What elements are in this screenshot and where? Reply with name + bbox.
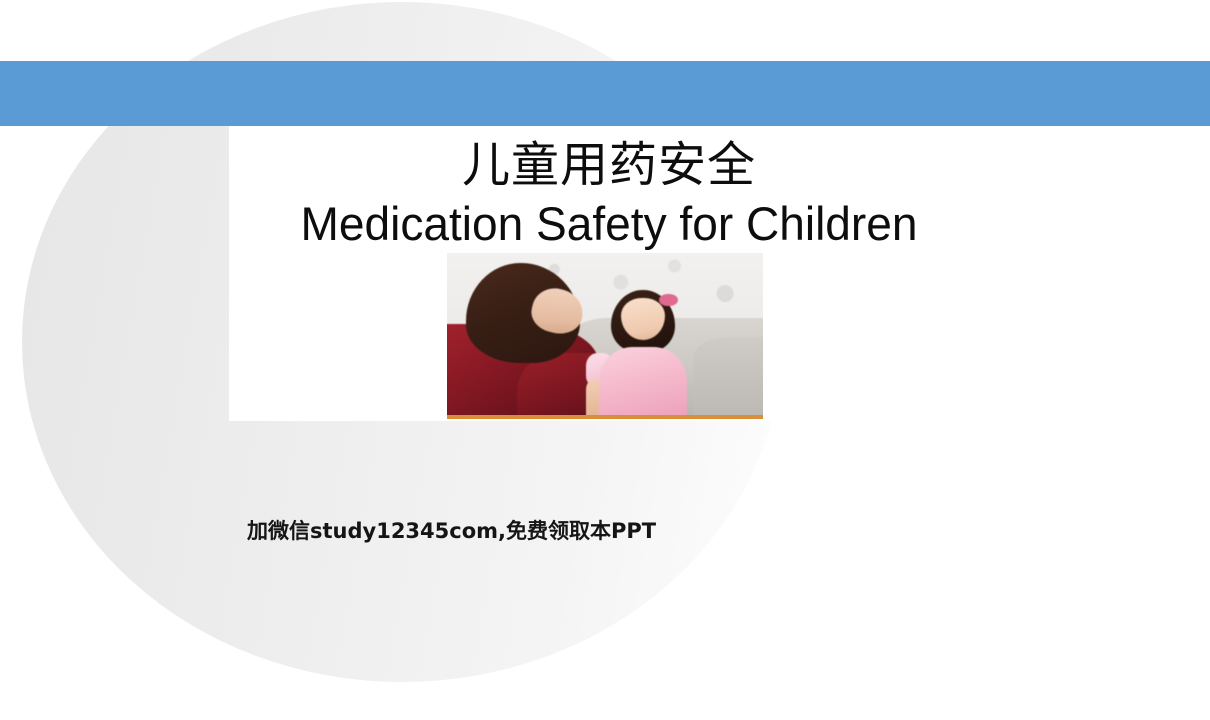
mother-and-daughter-photo (447, 253, 763, 419)
photo-girl-hair-bow (659, 294, 678, 307)
promo-watermark-text: 加微信study12345com,免费领取本PPT (247, 516, 656, 546)
slide-title-english: Medication Safety for Children (237, 196, 982, 252)
slide-title-chinese: 儿童用药安全 (229, 138, 989, 194)
photo-girl-shirt (599, 347, 687, 415)
presentation-slide: 儿童用药安全 Medication Safety for Children 加微… (0, 0, 1210, 720)
photo-content (447, 253, 763, 415)
blue-banner-bar (0, 61, 1210, 126)
photo-sofa-arm (693, 337, 763, 415)
